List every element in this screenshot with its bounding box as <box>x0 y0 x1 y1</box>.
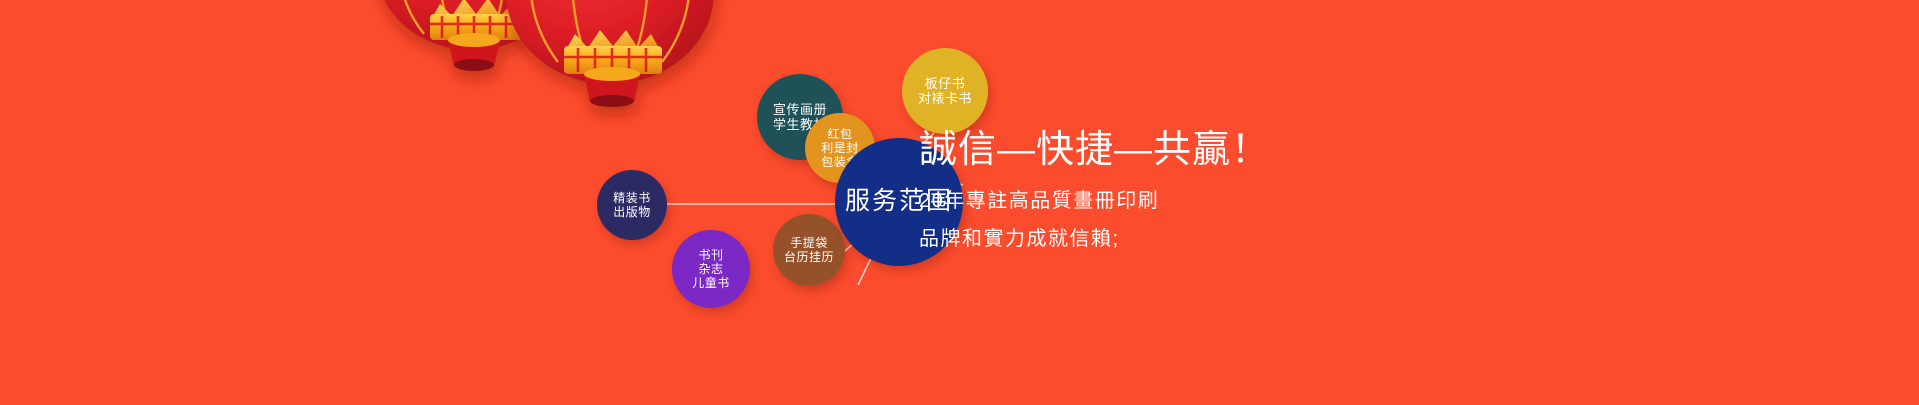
bubble-label-line: 书刊 <box>698 248 723 262</box>
headline: 誠信—快捷—共贏！ <box>919 118 1270 173</box>
bubble-label-line: 红包 <box>827 127 852 141</box>
bubble-label-line: 精装书 <box>613 191 651 205</box>
bubble-label-line: 宣传画册 <box>773 102 827 117</box>
bubble-periodicals[interactable]: 书刊 杂志 儿童书 <box>672 230 750 308</box>
bubble-label-line: 利是封 <box>821 141 859 155</box>
bubble-label-line: 儿童书 <box>692 276 730 290</box>
bubble-handbags-calendars[interactable]: 手提袋 台历挂历 <box>773 214 845 286</box>
bubble-label-line: 出版物 <box>613 205 651 219</box>
subline-2: 品牌和實力成就信賴; <box>919 222 1270 251</box>
marketing-copy: 誠信—快捷—共贏！ 20年專註高品質畫冊印刷 品牌和實力成就信賴; <box>919 118 1270 251</box>
bubble-hardcover-publications[interactable]: 精装书 出版物 <box>597 170 667 240</box>
subline-1: 20年專註高品質畫冊印刷 <box>919 184 1270 213</box>
bubble-label-line: 板仔书 <box>925 76 966 91</box>
bubble-label-line: 手提袋 <box>790 236 828 250</box>
promo-banner: 宣传画册 学生教材 板仔书 对裱卡书 红包 利是封 包装盒 手提袋 台历挂历 书… <box>0 0 1919 405</box>
bubble-label-line: 台历挂历 <box>784 250 834 264</box>
bubble-label-line: 杂志 <box>698 262 723 276</box>
bubble-label-line: 对裱卡书 <box>918 91 972 106</box>
